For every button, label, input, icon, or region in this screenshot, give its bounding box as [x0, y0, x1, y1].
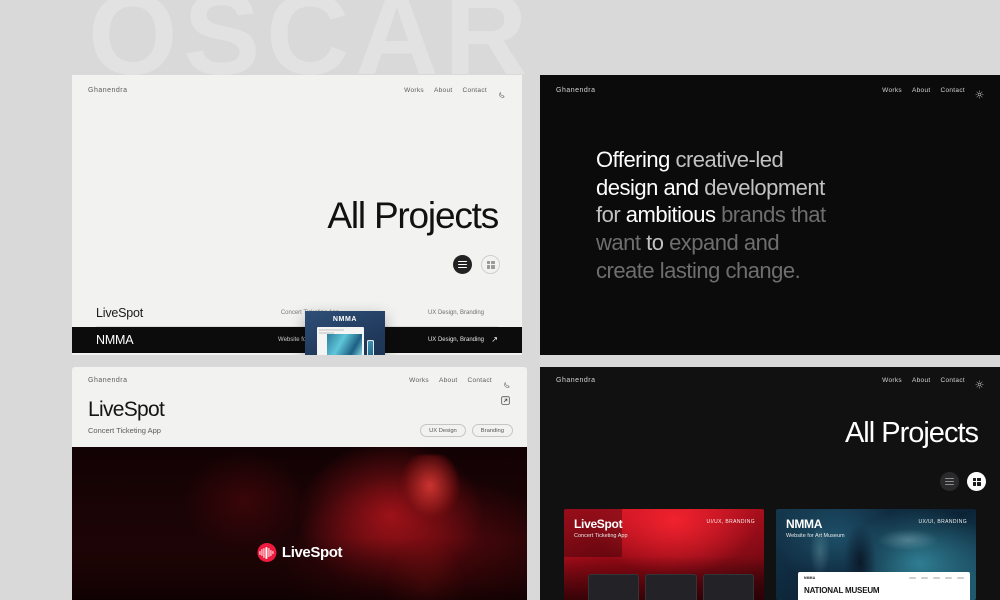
panel-project-livespot: Ghanendra Works About Contact LiveSpot C… [72, 367, 527, 600]
panel-statement-dark: Ghanendra Works About Contact Offering c… [540, 75, 1000, 355]
nav-logo[interactable]: Ghanendra [556, 87, 596, 94]
sun-icon[interactable] [975, 86, 984, 95]
card-site-mockup: NMMA NATIONAL MUSEUM [798, 572, 970, 600]
headline-line-1: Offering creative-led [596, 146, 984, 174]
site-nav: Ghanendra Works About Contact [72, 367, 527, 385]
project-name: LiveSpot [96, 306, 246, 320]
mockup-heading: NATIONAL MUSEUM [804, 586, 964, 595]
card-subtitle: Website for Art Museum [786, 533, 845, 539]
project-tag-pills: UX Design Branding [420, 424, 513, 437]
site-nav: Ghanendra Works About Contact [540, 367, 1000, 385]
grid-view-icon [973, 478, 981, 486]
project-header: LiveSpot Concert Ticketing App UX Design… [72, 385, 527, 435]
mockup-nav [909, 577, 964, 579]
moon-icon[interactable] [502, 376, 511, 385]
preview-title: NMMA [309, 316, 381, 323]
site-nav: Ghanendra Works About Contact [72, 75, 522, 95]
nav-logo[interactable]: Ghanendra [556, 377, 596, 384]
waveform-icon [257, 543, 276, 562]
table-row[interactable]: Hornbills Conservation Program website U… [72, 353, 522, 355]
headline-line-5: create lasting change. [596, 257, 984, 285]
nav-logo[interactable]: Ghanendra [88, 377, 128, 384]
project-hero-image: LiveSpot [72, 447, 527, 600]
external-link-icon[interactable] [500, 393, 511, 404]
nav-link-contact[interactable]: Contact [462, 87, 487, 94]
arrow-icon: ↗ [488, 335, 498, 344]
project-title: LiveSpot [88, 399, 511, 421]
view-list-toggle[interactable] [940, 472, 959, 491]
view-list-toggle[interactable] [453, 255, 472, 274]
nav-link-contact[interactable]: Contact [940, 377, 965, 384]
card-phone-mockups [588, 574, 754, 600]
nav-link-contact[interactable]: Contact [940, 87, 965, 94]
laptop-mockup [317, 327, 364, 355]
panel-all-projects-light: Ghanendra Works About Contact All Projec… [72, 75, 522, 355]
mockup-logo: NMMA [804, 576, 815, 580]
table-row[interactable]: NMMA Website for Art Museum UX Design, B… [72, 327, 522, 354]
card-tags: UX/UI, BRANDING [918, 519, 967, 525]
list-view-icon [458, 261, 467, 268]
grid-card-nmma[interactable]: NMMA Website for Art Museum UX/UI, BRAND… [776, 509, 976, 600]
sun-icon[interactable] [975, 376, 984, 385]
panel-all-projects-dark: Ghanendra Works About Contact All Projec… [540, 367, 1000, 600]
headline-line-2: design and development [596, 174, 984, 202]
moon-icon[interactable] [497, 86, 506, 95]
nav-links: Works About Contact [882, 86, 984, 95]
nav-link-contact[interactable]: Contact [467, 377, 492, 384]
page-title: All Projects [327, 197, 498, 234]
nav-links: Works About Contact [409, 376, 511, 385]
nav-logo[interactable]: Ghanendra [88, 87, 128, 94]
nav-link-works[interactable]: Works [404, 87, 424, 94]
headline-line-4: want to expand and [596, 229, 984, 257]
grid-card-livespot[interactable]: LiveSpot Concert Ticketing App UI/UX, BR… [564, 509, 764, 600]
table-row[interactable]: LiveSpot Concert Ticketing App UX Design… [72, 300, 522, 327]
view-grid-toggle[interactable] [481, 255, 500, 274]
list-view-icon [945, 478, 954, 485]
project-tags: UX Design, Branding [374, 337, 484, 343]
livespot-logo-text: LiveSpot [282, 544, 342, 561]
card-subtitle: Concert Ticketing App [574, 533, 628, 539]
nav-link-works[interactable]: Works [409, 377, 429, 384]
status-badge[interactable]: Branding [472, 424, 513, 437]
status-badge[interactable]: UX Design [420, 424, 466, 437]
nav-links: Works About Contact [404, 86, 506, 95]
project-grid: LiveSpot Concert Ticketing App UI/UX, BR… [564, 509, 976, 600]
card-title: NMMA [786, 517, 822, 531]
card-tags: UI/UX, BRANDING [706, 519, 755, 525]
card-title: LiveSpot [574, 517, 622, 531]
preview-mockup [309, 327, 381, 355]
project-tags: UX Design, Branding [374, 310, 484, 316]
site-nav: Ghanendra Works About Contact [540, 75, 1000, 95]
page-title: All Projects [845, 419, 978, 448]
nav-link-about[interactable]: About [912, 87, 931, 94]
laptop-screen [317, 327, 364, 355]
project-name: NMMA [96, 333, 246, 347]
project-preview-card: NMMA [305, 311, 385, 355]
project-list: LiveSpot Concert Ticketing App UX Design… [72, 300, 522, 355]
livespot-logo: LiveSpot [257, 543, 342, 562]
view-toggle-group [940, 472, 986, 491]
nav-link-works[interactable]: Works [882, 377, 902, 384]
nav-link-about[interactable]: About [912, 377, 931, 384]
nav-link-works[interactable]: Works [882, 87, 902, 94]
statement-headline: Offering creative-led design and develop… [596, 146, 984, 285]
grid-view-icon [487, 261, 495, 269]
nav-links: Works About Contact [882, 376, 984, 385]
nav-link-about[interactable]: About [439, 377, 458, 384]
view-grid-toggle[interactable] [967, 472, 986, 491]
view-toggle-group [453, 255, 500, 274]
phone-mockup [367, 340, 374, 355]
nav-link-about[interactable]: About [434, 87, 453, 94]
headline-line-3: for ambitious brands that [596, 201, 984, 229]
